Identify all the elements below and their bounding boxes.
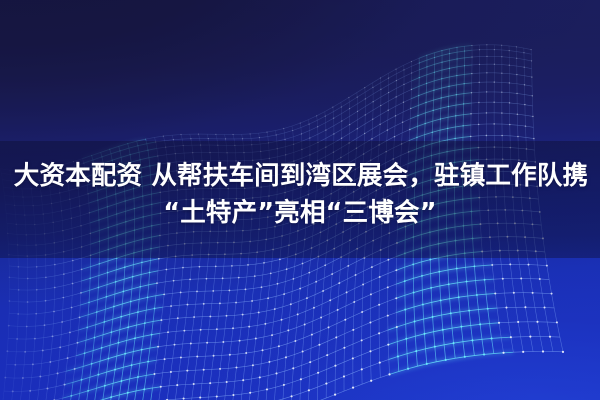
banner-headline: 大资本配资 从帮扶车间到湾区展会，驻镇工作队携 “土特产”亮相“三博会” [0,158,600,232]
promo-banner: 大资本配资 从帮扶车间到湾区展会，驻镇工作队携 “土特产”亮相“三博会” [0,0,600,400]
headline-line-1: 大资本配资 从帮扶车间到湾区展会，驻镇工作队携 [0,158,600,195]
headline-line-2: “土特产”亮相“三博会” [0,195,600,232]
